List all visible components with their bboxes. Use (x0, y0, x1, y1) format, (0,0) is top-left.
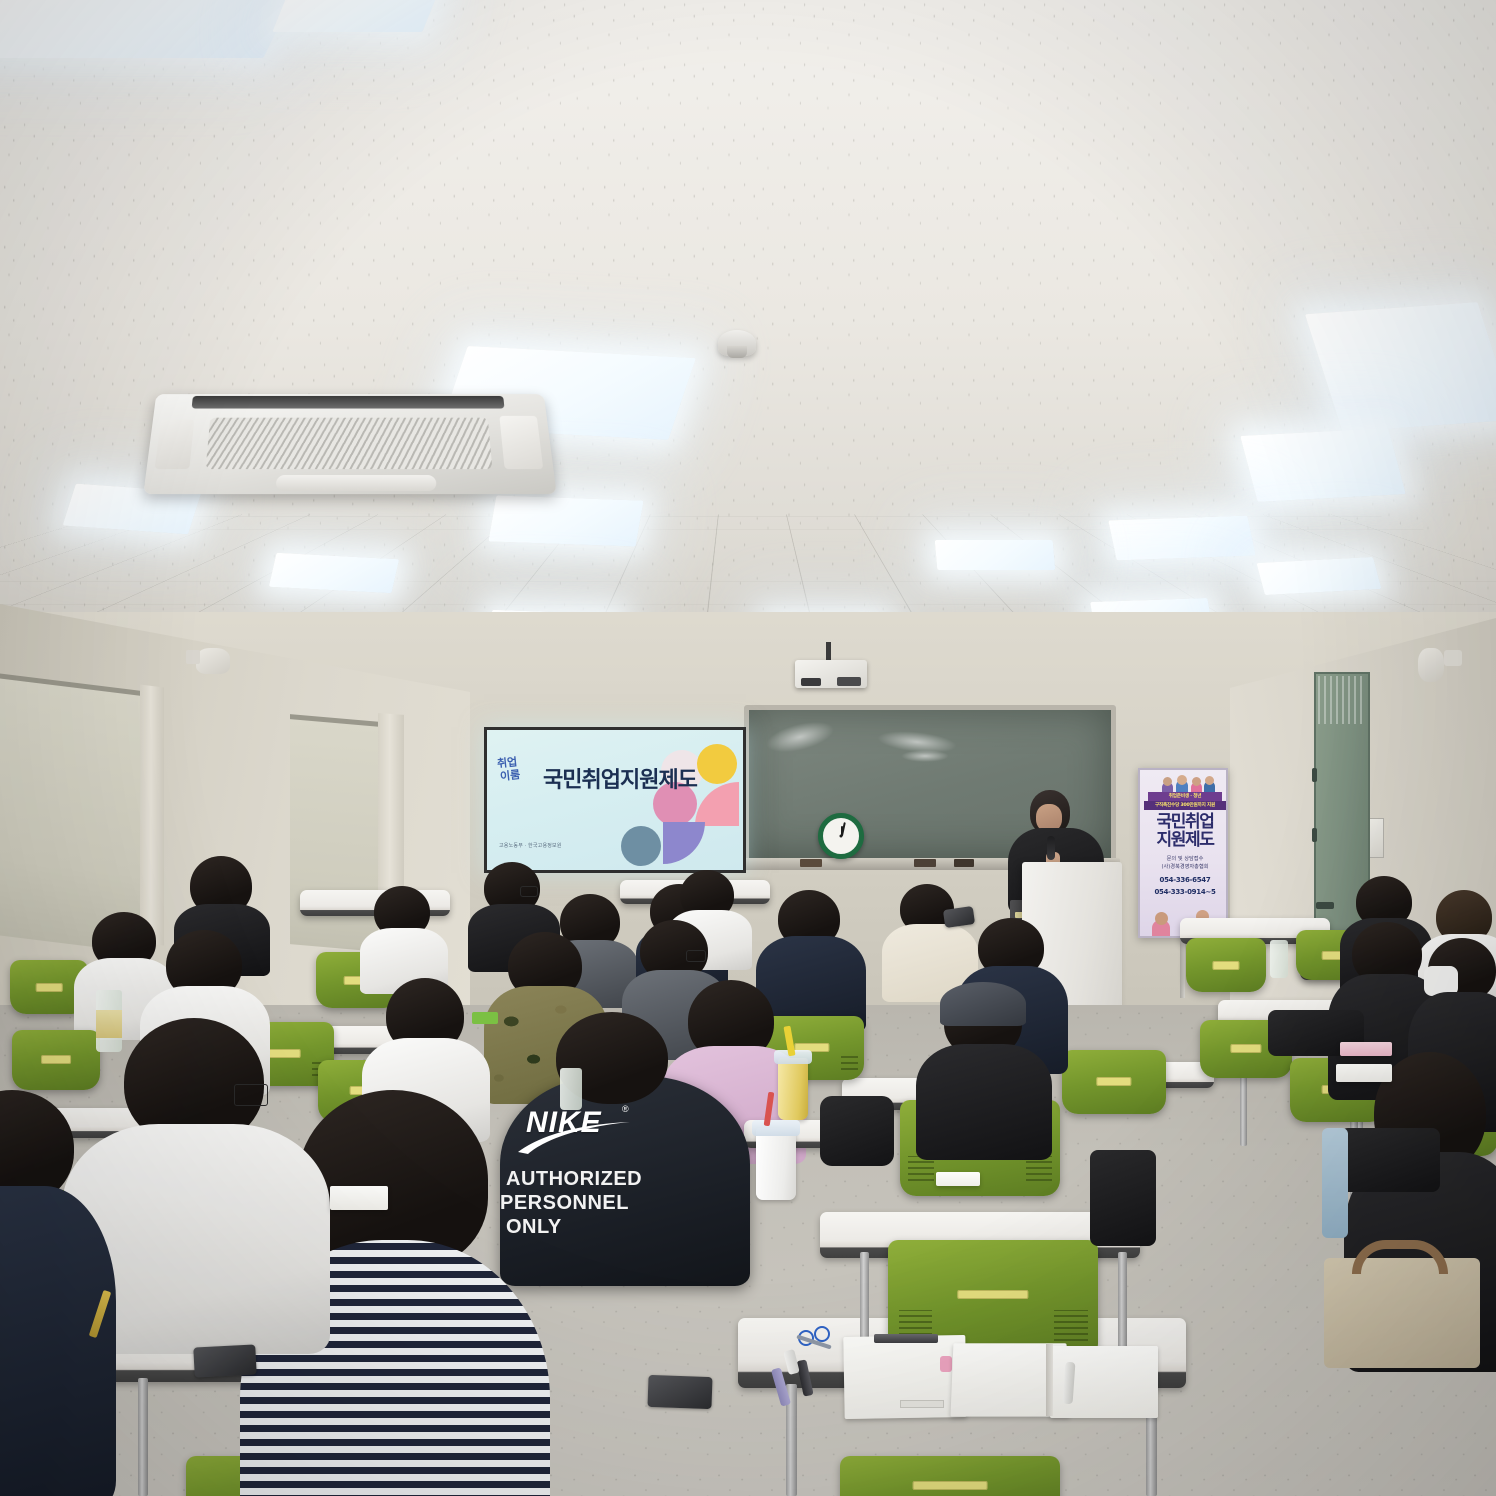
banner-tel-2: 054-333-0914~5 (1140, 888, 1228, 897)
banner-ribbon-2: 구직촉진수당 300만원까지 지원 (1144, 801, 1226, 810)
banner-contact-label: 문의 및 상담접수 (1140, 856, 1228, 863)
nike-registered-mark: ® (622, 1104, 629, 1114)
eraser[interactable] (800, 859, 822, 867)
projection-screen: 취업 이룸 국민취업지원제도 고용노동부 · 한국고용정보원 (484, 727, 746, 873)
wall-control-panel[interactable] (1368, 818, 1384, 858)
ceiling-light (488, 495, 643, 546)
bottle-label (96, 1010, 122, 1038)
ceiling-light (269, 553, 399, 593)
banner-tel-1: 054-336-6547 (1140, 876, 1228, 885)
microphone-icon (1047, 836, 1055, 860)
slide-shape-quarter-purple (663, 822, 705, 864)
drink-bottle (560, 1068, 582, 1110)
chair[interactable] (12, 1030, 100, 1090)
clipboard-label (900, 1400, 944, 1408)
smartphone[interactable] (193, 1344, 256, 1377)
slide-logo: 취업 이룸 (497, 756, 543, 790)
ac-vent (192, 396, 505, 409)
cup-with-yellow-straw (778, 1058, 808, 1120)
chair[interactable] (1186, 938, 1266, 992)
slide-shape-quarter-salmon (695, 782, 739, 826)
wall-speaker-icon (196, 648, 230, 674)
nike-text-line2: PERSONNEL (500, 1192, 629, 1215)
smartphone[interactable] (647, 1375, 712, 1409)
notes-paper[interactable] (1340, 1042, 1392, 1056)
door-hinge (1312, 768, 1317, 782)
projector-mount (826, 642, 831, 662)
notes-paper[interactable] (330, 1186, 388, 1210)
nike-text-line1: AUTHORIZED (506, 1168, 642, 1191)
nike-text-line3: ONLY (506, 1216, 562, 1239)
slide-logo-line2: 이룸 (500, 767, 544, 782)
scissors-icon[interactable] (814, 1326, 830, 1342)
smoke-detector-icon (718, 330, 756, 356)
notes-paper[interactable] (1336, 1064, 1392, 1082)
notebook-spine (1046, 1344, 1053, 1416)
highlighter-green[interactable] (472, 1012, 498, 1024)
chair[interactable] (1062, 1050, 1166, 1114)
classroom-photo: 12:02 취업 이룸 국민취업지원제도 고용노동부 · 한국고용정보원 (0, 0, 1496, 1496)
backpack (1340, 1128, 1440, 1192)
slide-subtitle: 고용노동부 · 한국고용정보원 (499, 842, 562, 849)
eraser[interactable] (914, 859, 936, 867)
standing-banner: 취업준비생 · 청년 구직촉진수당 300만원까지 지원 국민취업 지원제도 문… (1138, 768, 1228, 938)
ceiling-light (1257, 557, 1382, 595)
banner-org: (사)경북경영자총협회 (1140, 864, 1228, 871)
banner-title-line2: 지원제도 (1140, 832, 1228, 849)
banner-title-line1: 국민취업 (1140, 814, 1228, 831)
slide-shape-circle-yellow (697, 744, 737, 784)
banner-stand-pole (1180, 938, 1185, 998)
slide-title: 국민취업지원제도 (543, 762, 697, 794)
eraser[interactable] (954, 859, 974, 867)
clipboard-clip (874, 1334, 938, 1343)
ceiling-light (272, 0, 441, 32)
backpack (1090, 1150, 1156, 1246)
wall-speaker-icon (1418, 648, 1444, 682)
speaker-bracket (186, 650, 200, 664)
drink-bottle (1270, 940, 1288, 978)
projector-icon (795, 660, 867, 688)
tote-bag (1324, 1258, 1480, 1368)
ceiling-light (0, 0, 297, 58)
ceiling-light (1240, 428, 1406, 502)
door-handle-icon[interactable] (1316, 902, 1334, 909)
notes-paper[interactable] (936, 1172, 980, 1186)
air-conditioner-unit (143, 394, 556, 494)
ceiling-light (935, 540, 1056, 570)
front-drink-cup (756, 1128, 796, 1200)
page-marker (940, 1356, 952, 1372)
ac-grille (206, 418, 493, 469)
slide-shape-circle-blue (621, 826, 661, 866)
ceiling (0, 0, 1496, 700)
baseball-cap (940, 982, 1026, 1026)
cup-lid (752, 1120, 800, 1136)
ceiling-light (1108, 516, 1255, 561)
wall-clock: 12:02 (818, 813, 864, 859)
umbrella (1322, 1128, 1348, 1238)
banner-ribbon-1: 취업준비생 · 청년 (1148, 792, 1222, 801)
desk-leg (138, 1378, 148, 1496)
speaker-bracket (1444, 650, 1462, 666)
door-window (1318, 676, 1366, 724)
backpack (820, 1096, 894, 1166)
window-blind (290, 714, 380, 952)
chair[interactable] (840, 1456, 1060, 1496)
wall-column (140, 685, 164, 946)
door-hinge (1312, 828, 1317, 842)
nike-swoosh-icon (516, 1122, 636, 1156)
attendee-nike-shirt: NIKE ® AUTHORIZED PERSONNEL ONLY (500, 1076, 750, 1286)
